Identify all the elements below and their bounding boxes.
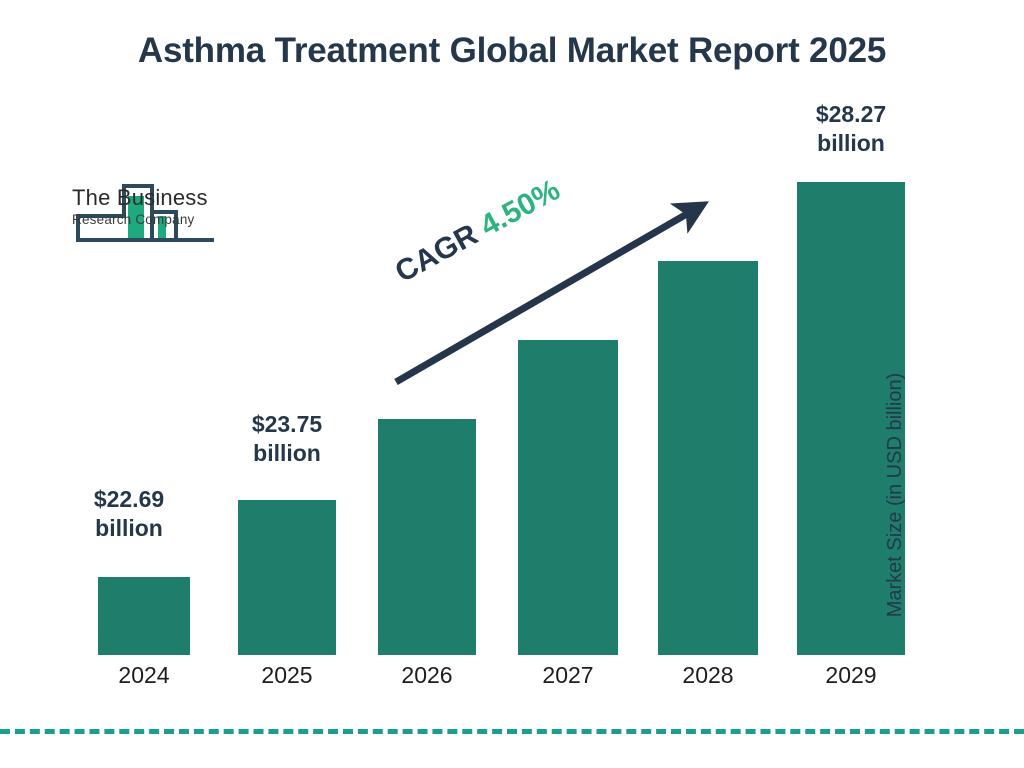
value-label-2029-amount: $28.27 — [786, 100, 916, 129]
x-tick-2025: 2025 — [227, 662, 347, 689]
x-tick-2029: 2029 — [791, 662, 911, 689]
x-tick-2026: 2026 — [367, 662, 487, 689]
value-label-2025: $23.75 billion — [222, 410, 352, 469]
value-label-2025-amount: $23.75 — [222, 410, 352, 439]
bar-2028 — [658, 261, 758, 655]
x-tick-2027: 2027 — [508, 662, 628, 689]
value-label-2029: $28.27 billion — [786, 100, 916, 159]
value-label-2025-unit: billion — [222, 439, 352, 468]
value-label-2024-amount: $22.69 — [64, 485, 194, 514]
value-label-2024-unit: billion — [64, 514, 194, 543]
plot-area: $22.69 billion $23.75 billion $28.27 bil… — [0, 0, 1024, 768]
bar-2024 — [98, 577, 190, 655]
value-label-2024: $22.69 billion — [64, 485, 194, 544]
cagr-value: 4.50% — [475, 173, 566, 243]
bar-2026 — [378, 419, 476, 655]
x-tick-2028: 2028 — [648, 662, 768, 689]
cagr-annotation: CAGR 4.50% — [390, 173, 566, 290]
x-tick-2024: 2024 — [84, 662, 204, 689]
bar-2025 — [238, 500, 336, 655]
chart-canvas: Asthma Treatment Global Market Report 20… — [0, 0, 1024, 768]
cagr-label: CAGR — [390, 218, 483, 289]
y-axis-title: Market Size (in USD billion) — [884, 330, 907, 660]
value-label-2029-unit: billion — [786, 129, 916, 158]
bar-2027 — [518, 340, 618, 655]
footer-divider — [0, 729, 1024, 734]
